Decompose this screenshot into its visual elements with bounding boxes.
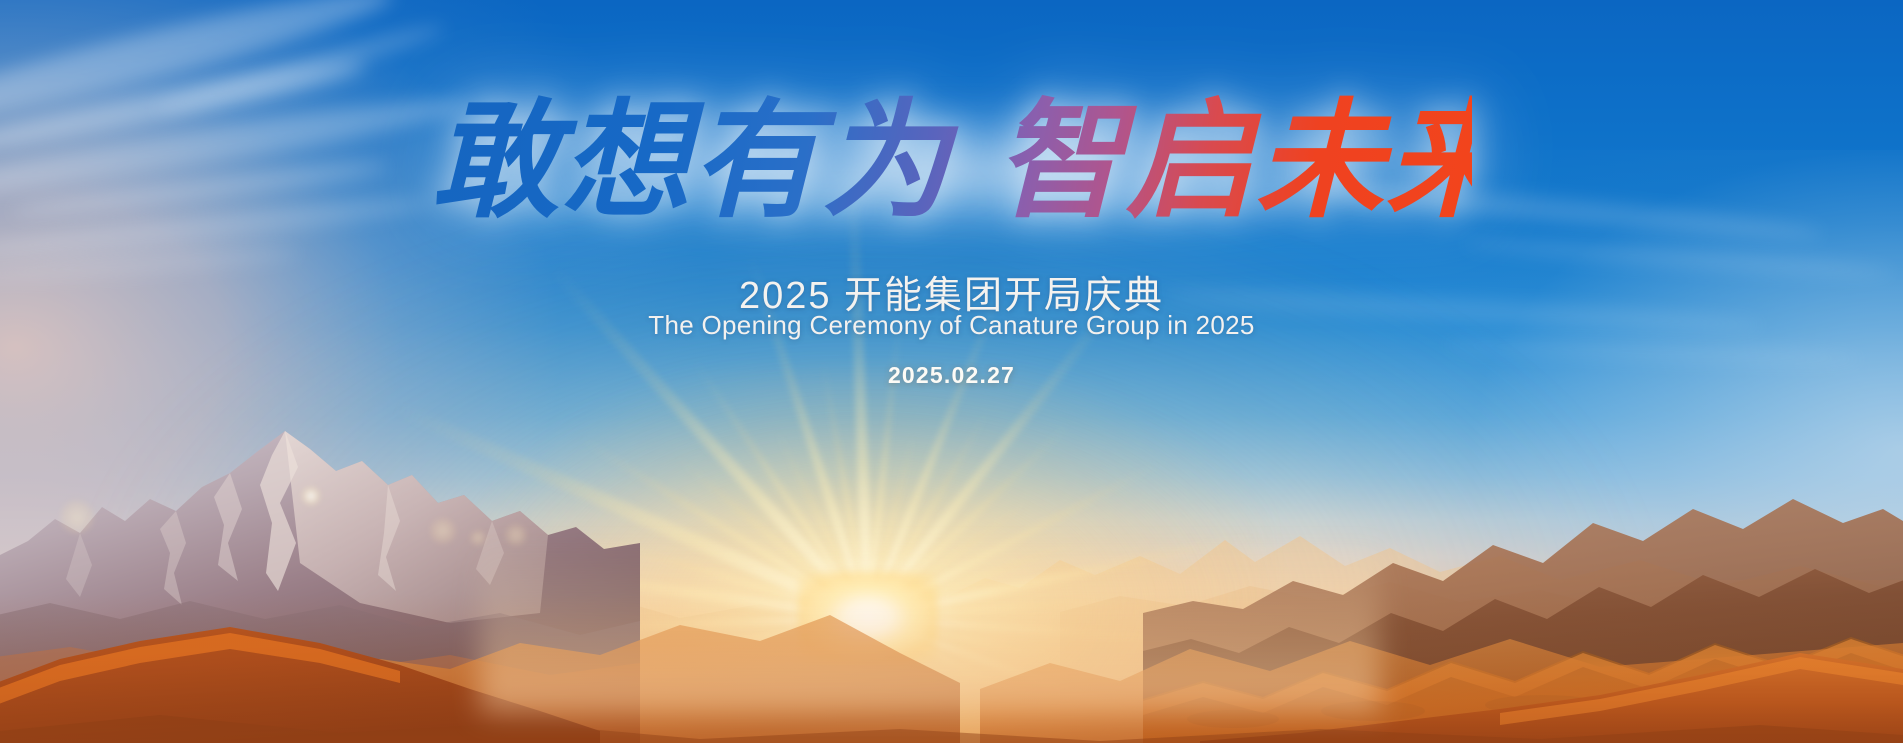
event-banner: 敢想有为智启未来 2025 开能集团开局庆典 The Opening Cerem… xyxy=(0,0,1903,743)
calligraphy-phrase-left: 敢想有为 xyxy=(432,86,952,236)
lens-flare-icon xyxy=(60,500,94,534)
valley-mist xyxy=(480,543,1380,713)
main-calligraphy-title: 敢想有为智启未来 xyxy=(432,86,1472,237)
calligraphy-phrase-right: 智启未来 xyxy=(996,86,1516,236)
event-date: 2025.02.27 xyxy=(0,362,1903,389)
subtitle-english: The Opening Ceremony of Canature Group i… xyxy=(0,310,1903,341)
lens-flare-icon xyxy=(470,530,486,546)
lens-flare-icon xyxy=(430,518,456,544)
lens-flare-icon xyxy=(302,487,320,505)
lens-flare-icon xyxy=(505,524,527,546)
